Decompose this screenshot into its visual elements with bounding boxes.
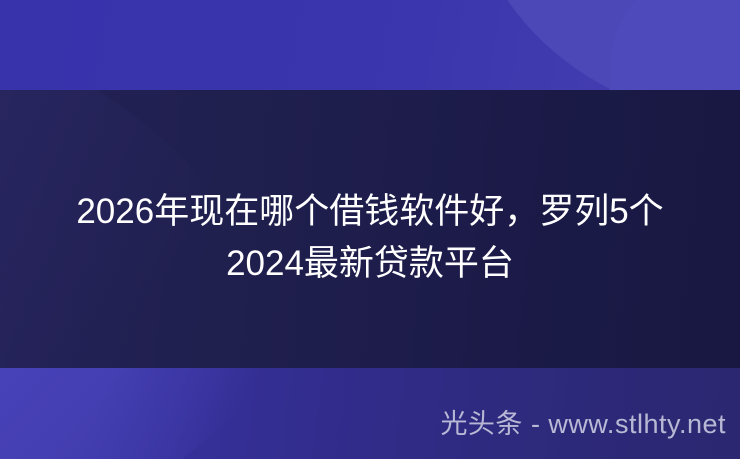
banner-title: 2026年现在哪个借钱软件好，罗列5个 2024最新贷款平台 — [0, 186, 740, 290]
promo-banner: 2026年现在哪个借钱软件好，罗列5个 2024最新贷款平台 光头条 - www… — [0, 0, 740, 459]
top-right-accent-shape-secondary — [610, 0, 740, 90]
banner-title-line-1: 2026年现在哪个借钱软件好，罗列5个 — [0, 186, 740, 238]
top-color-band — [0, 0, 740, 90]
banner-title-line-2: 2024最新贷款平台 — [0, 238, 740, 290]
watermark-text: 光头条 - www.stlhty.net — [440, 407, 726, 441]
